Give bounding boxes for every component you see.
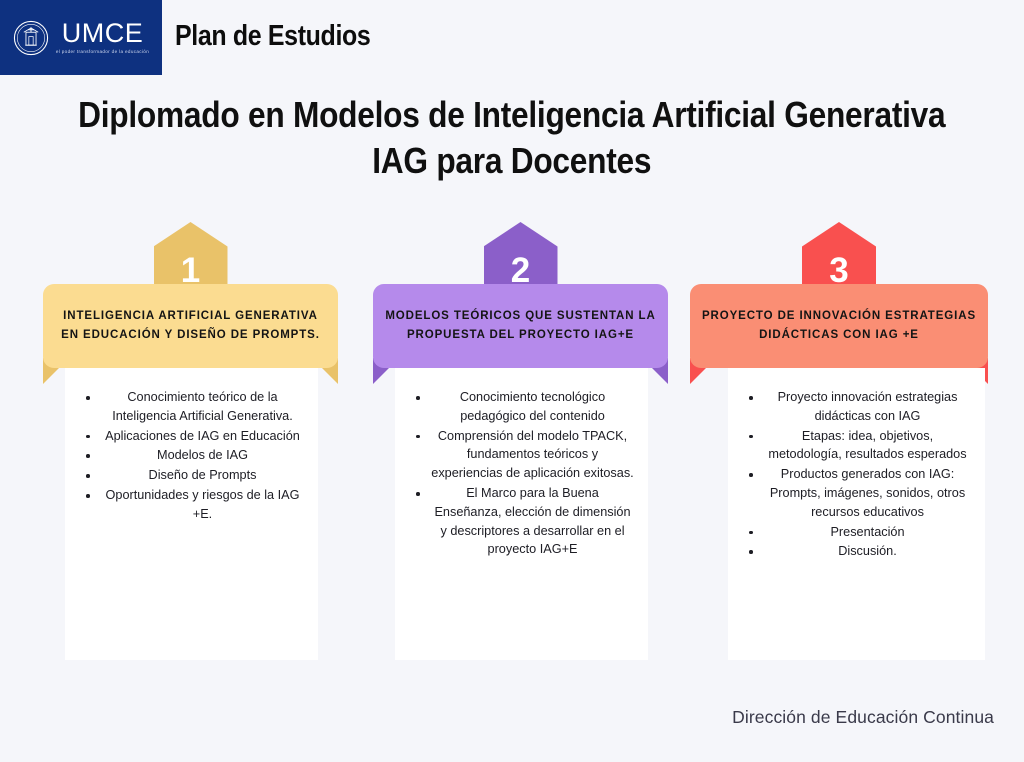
- module-number-2: 2: [511, 253, 530, 288]
- module-number-3: 3: [829, 253, 848, 288]
- module-cards: 1 INTELIGENCIA ARTIFICIAL GENERATIVA EN …: [0, 0, 1024, 762]
- list-item: Diseño de Prompts: [101, 466, 304, 485]
- module-banner-1: INTELIGENCIA ARTIFICIAL GENERATIVA EN ED…: [43, 284, 338, 368]
- list-item: Comprensión del modelo TPACK, fundamento…: [431, 427, 634, 483]
- module-heading-1: INTELIGENCIA ARTIFICIAL GENERATIVA EN ED…: [43, 307, 338, 345]
- list-item: Etapas: idea, objetivos, metodología, re…: [764, 427, 971, 465]
- list-item: El Marco para la Buena Enseñanza, elecci…: [431, 484, 634, 559]
- list-item: Conocimiento teórico de la Inteligencia …: [101, 388, 304, 426]
- list-item: Presentación: [764, 523, 971, 542]
- module-heading-2: MODELOS TEÓRICOS QUE SUSTENTAN LA PROPUE…: [373, 307, 668, 345]
- module-heading-3: PROYECTO DE INNOVACIÓN ESTRATEGIAS DIDÁC…: [690, 307, 988, 345]
- list-item: Oportunidades y riesgos de la IAG +E.: [101, 486, 304, 524]
- module-banner-2: MODELOS TEÓRICOS QUE SUSTENTAN LA PROPUE…: [373, 284, 668, 368]
- module-panel-1: Conocimiento teórico de la Inteligencia …: [65, 368, 318, 660]
- module-list-2: Conocimiento tecnológico pedagógico del …: [405, 388, 638, 559]
- module-panel-3: Proyecto innovación estrategias didáctic…: [728, 368, 985, 660]
- module-banner-3: PROYECTO DE INNOVACIÓN ESTRATEGIAS DIDÁC…: [690, 284, 988, 368]
- list-item: Modelos de IAG: [101, 446, 304, 465]
- list-item: Proyecto innovación estrategias didáctic…: [764, 388, 971, 426]
- list-item: Discusión.: [764, 542, 971, 561]
- list-item: Aplicaciones de IAG en Educación: [101, 427, 304, 446]
- footer-department-label: Dirección de Educación Continua: [732, 707, 994, 728]
- list-item: Productos generados con IAG: Prompts, im…: [764, 465, 971, 521]
- module-number-1: 1: [181, 253, 200, 288]
- module-list-1: Conocimiento teórico de la Inteligencia …: [75, 388, 308, 524]
- module-list-3: Proyecto innovación estrategias didáctic…: [738, 388, 975, 561]
- list-item: Conocimiento tecnológico pedagógico del …: [431, 388, 634, 426]
- module-panel-2: Conocimiento tecnológico pedagógico del …: [395, 368, 648, 660]
